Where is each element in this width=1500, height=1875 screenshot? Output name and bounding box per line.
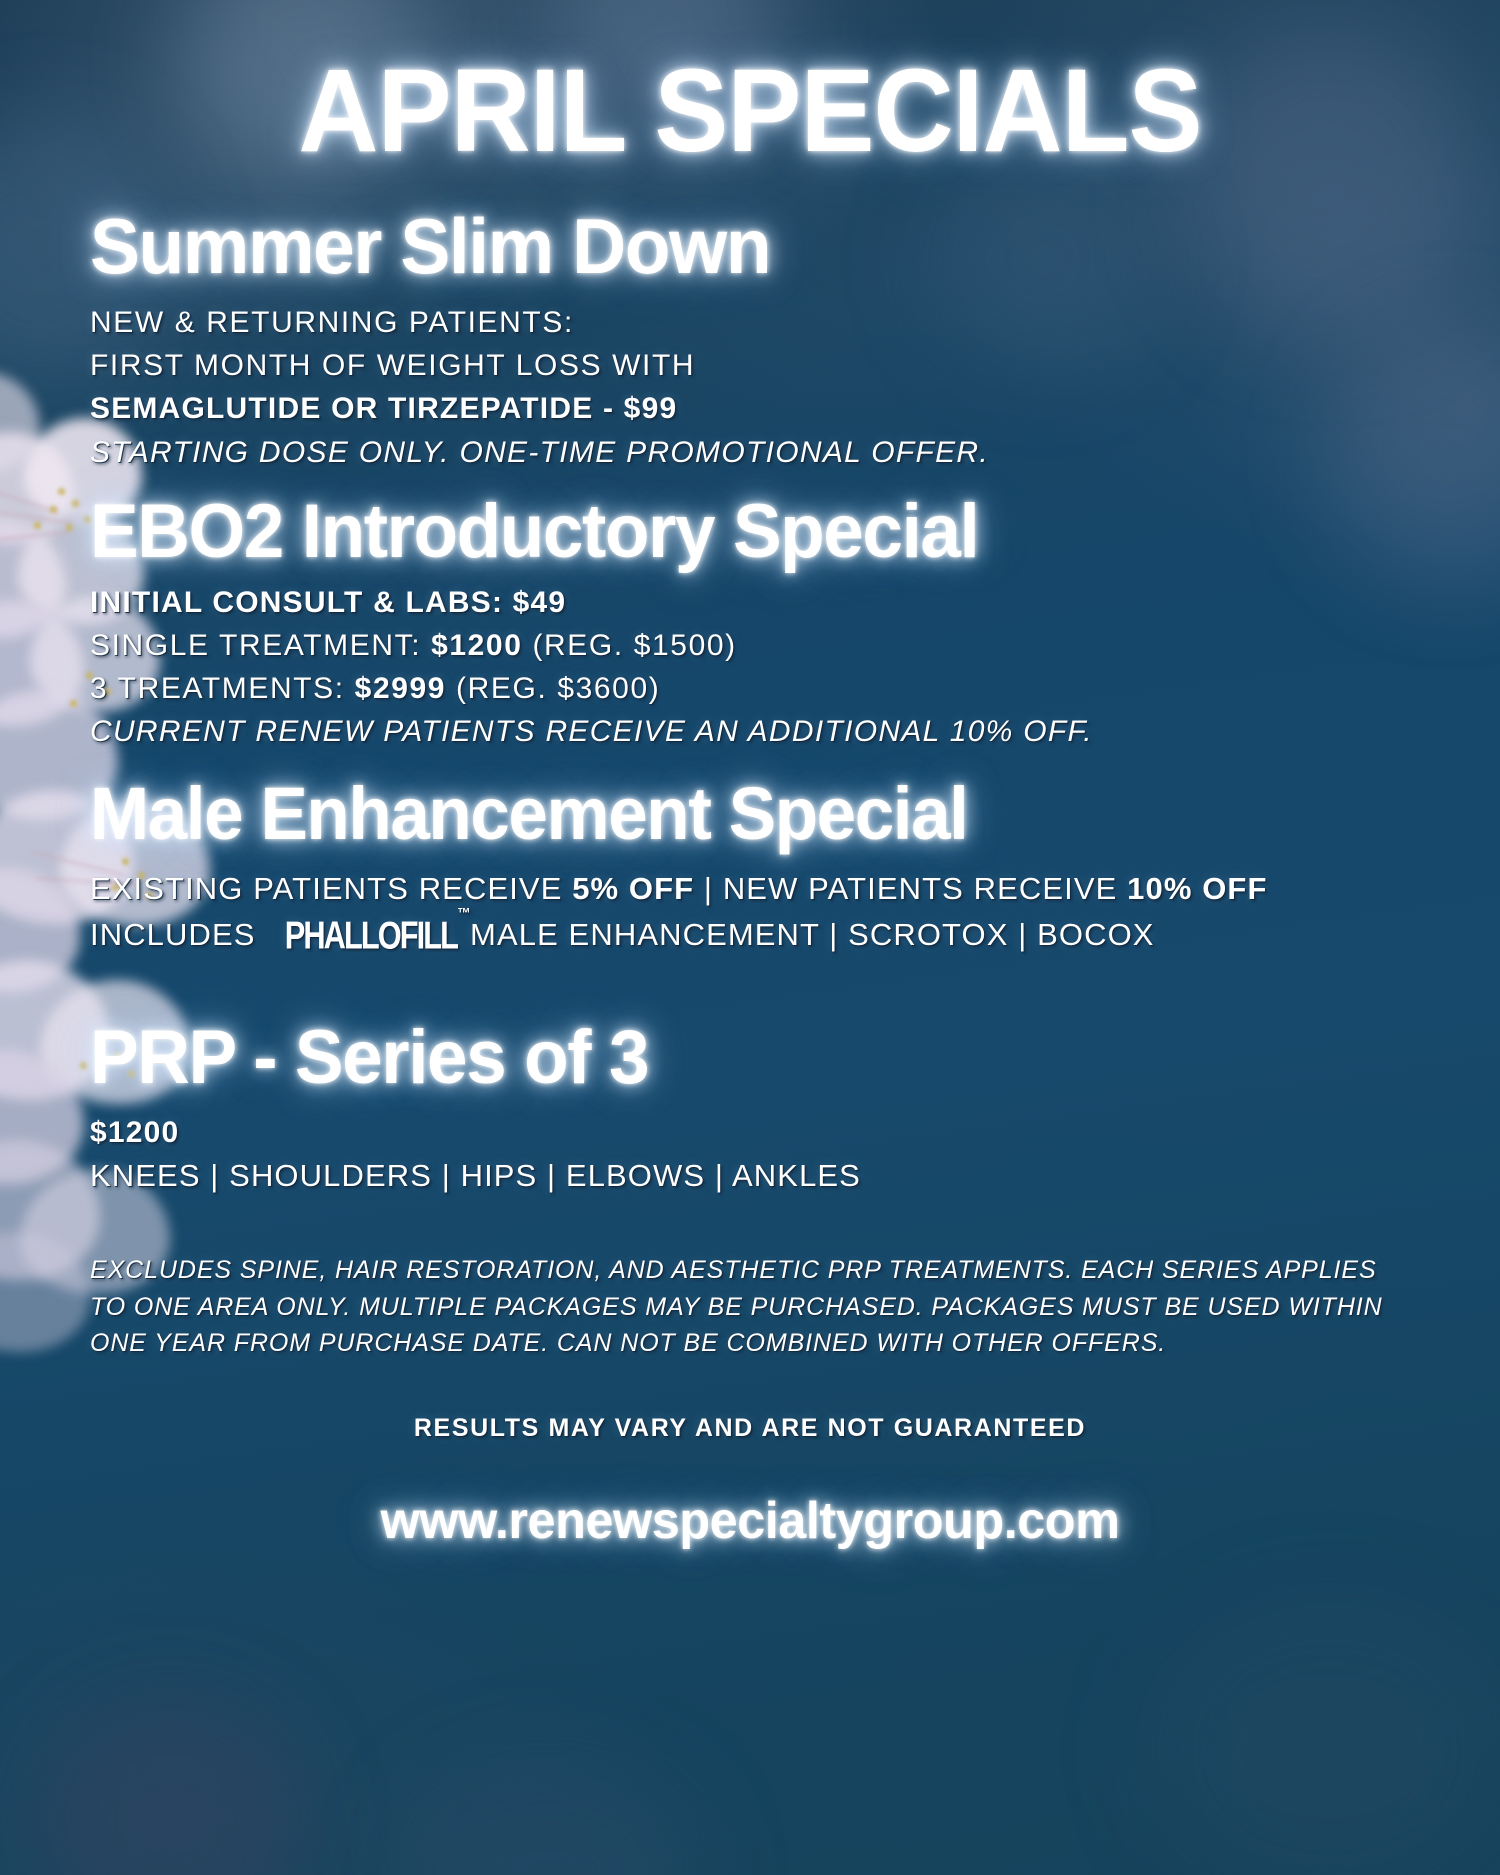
section-body-summer-slim-down: NEW & RETURNING PATIENTS: FIRST MONTH OF… [90,301,1410,474]
ebo2-single-regular-price: (REG. $1500) [532,629,736,662]
section-title-prp: PRP - Series of 3 [90,1018,1357,1097]
section-body-ebo2: INITIAL CONSULT & LABS: $49 SINGLE TREAT… [90,581,1410,754]
section-body-prp: $1200 KNEES | SHOULDERS | HIPS | ELBOWS … [90,1111,1410,1199]
fine-print: EXCLUDES SPINE, HAIR RESTORATION, AND AE… [90,1252,1410,1362]
trademark-icon: ™ [457,904,470,925]
page-title: APRIL SPECIALS [130,0,1371,170]
male-separator: | [694,871,723,906]
male-new-discount: 10% OFF [1127,871,1267,906]
prp-areas: KNEES | SHOULDERS | HIPS | ELBOWS | ANKL… [90,1154,1410,1199]
ebo2-three-treatments-line: 3 TREATMENTS: $2999 (REG. $3600) [90,667,1410,710]
ebo2-three-label: 3 TREATMENTS: [90,672,345,705]
summer-line-disclaimer: STARTING DOSE ONLY. ONE-TIME PROMOTIONAL… [90,431,1410,474]
male-includes-line: INCLUDES PHALLOFILL™MALE ENHANCEMENT | S… [90,911,1410,961]
summer-line-first-month: FIRST MONTH OF WEIGHT LOSS WITH [90,344,1410,387]
male-new-prefix: NEW PATIENTS RECEIVE [723,871,1127,906]
section-title-male-enhancement: Male Enhancement Special [90,776,1357,853]
summer-line-patients: NEW & RETURNING PATIENTS: [90,301,1410,344]
male-includes-suffix: MALE ENHANCEMENT | SCROTOX | BOCOX [470,917,1155,952]
male-existing-prefix: EXISTING PATIENTS RECEIVE [90,871,572,906]
summer-line-price: SEMAGLUTIDE OR TIRZEPATIDE - $99 [90,387,1410,430]
section-body-male-enhancement: EXISTING PATIENTS RECEIVE 5% OFF | NEW P… [90,867,1410,962]
section-title-ebo2: EBO2 Introductory Special [90,492,1357,571]
ebo2-three-regular-price: (REG. $3600) [456,672,660,705]
phallofill-logo: PHALLOFILL™ [285,908,457,964]
results-disclaimer: RESULTS MAY VARY AND ARE NOT GUARANTEED [90,1414,1410,1443]
ebo2-consult-line: INITIAL CONSULT & LABS: $49 [90,581,1410,624]
flyer-content: APRIL SPECIALS Summer Slim Down NEW & RE… [0,0,1500,1875]
male-includes-prefix: INCLUDES [90,917,256,952]
ebo2-single-treatment-line: SINGLE TREATMENT: $1200 (REG. $1500) [90,624,1410,667]
prp-price: $1200 [90,1111,1410,1154]
ebo2-single-label: SINGLE TREATMENT: [90,629,421,662]
ebo2-single-price: $1200 [431,629,522,662]
male-discount-line: EXISTING PATIENTS RECEIVE 5% OFF | NEW P… [90,867,1410,912]
section-title-summer-slim-down: Summer Slim Down [90,206,1357,287]
website-url[interactable]: www.renewspecialtygroup.com [110,1491,1390,1551]
phallofill-wordmark: PHALLOFILL [285,914,457,958]
ebo2-disclaimer: CURRENT RENEW PATIENTS RECEIVE AN ADDITI… [90,710,1410,753]
male-existing-discount: 5% OFF [572,871,694,906]
ebo2-three-price: $2999 [355,672,446,705]
flyer-canvas: APRIL SPECIALS Summer Slim Down NEW & RE… [0,0,1500,1875]
